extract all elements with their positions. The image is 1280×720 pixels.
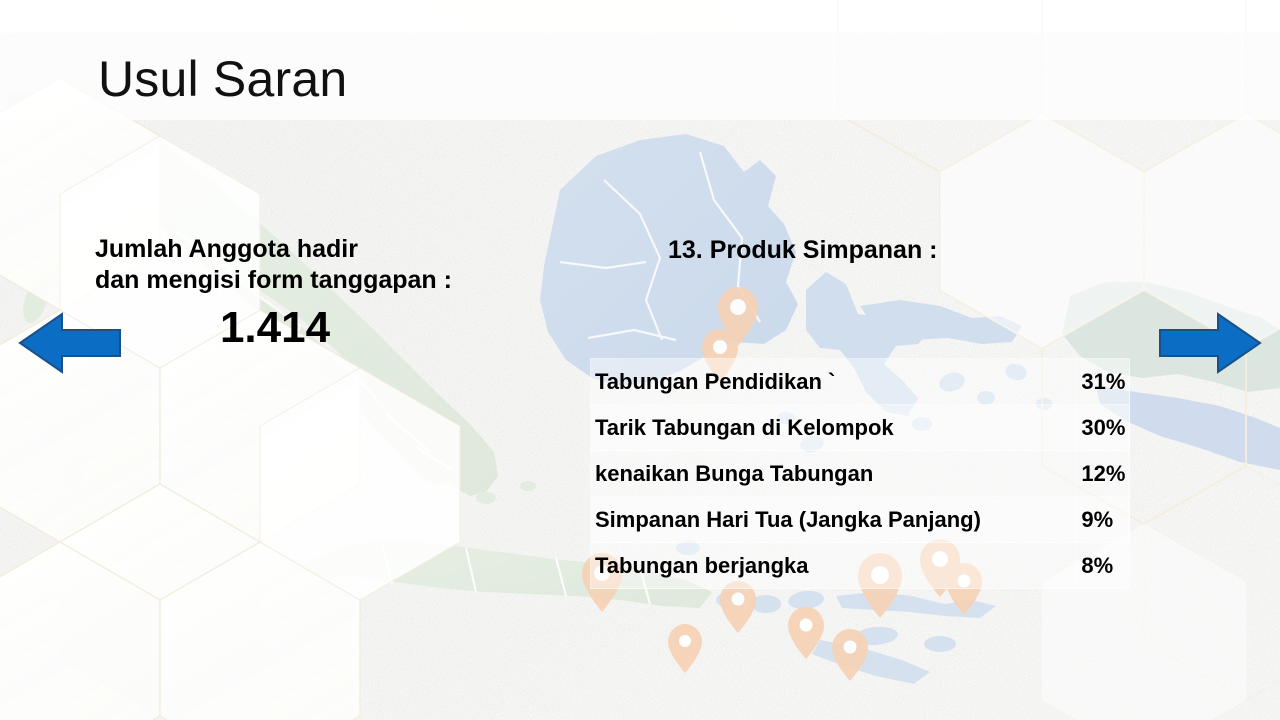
page-title: Usul Saran: [98, 52, 347, 107]
attendance-stat-block: Jumlah Anggota hadir dan mengisi form ta…: [95, 234, 565, 354]
table-row: Tabungan Pendidikan ` 31%: [591, 359, 1130, 405]
arrow-left-icon[interactable]: [18, 312, 122, 374]
attendance-label-line1: Jumlah Anggota hadir: [95, 234, 565, 265]
attendance-count-value: 1.414: [95, 302, 565, 354]
table-row: kenaikan Bunga Tabungan 12%: [591, 451, 1130, 497]
savings-product-table: Tabungan Pendidikan ` 31% Tarik Tabungan…: [590, 358, 1130, 589]
attendance-label-line2: dan mengisi form tanggapan :: [95, 265, 565, 296]
product-percent: 31%: [1077, 359, 1130, 405]
arrow-right-icon[interactable]: [1158, 312, 1262, 374]
table-row: Simpanan Hari Tua (Jangka Panjang) 9%: [591, 497, 1130, 543]
product-label: kenaikan Bunga Tabungan: [591, 451, 1077, 497]
table-row: Tabungan berjangka 8%: [591, 543, 1130, 589]
product-percent: 30%: [1077, 405, 1130, 451]
previous-slide-button[interactable]: [18, 312, 122, 374]
product-percent: 8%: [1077, 543, 1130, 589]
table-row: Tarik Tabungan di Kelompok 30%: [591, 405, 1130, 451]
product-label: Tabungan berjangka: [591, 543, 1077, 589]
savings-product-heading: 13. Produk Simpanan :: [668, 236, 938, 265]
product-percent: 12%: [1077, 451, 1130, 497]
savings-product-table-body: Tabungan Pendidikan ` 31% Tarik Tabungan…: [591, 359, 1130, 589]
product-label: Tabungan Pendidikan `: [591, 359, 1077, 405]
product-label: Tarik Tabungan di Kelompok: [591, 405, 1077, 451]
next-slide-button[interactable]: [1158, 312, 1262, 374]
slide-usul-saran: Usul Saran Jumlah Anggota hadir dan meng…: [0, 0, 1280, 720]
product-label: Simpanan Hari Tua (Jangka Panjang): [591, 497, 1077, 543]
product-percent: 9%: [1077, 497, 1130, 543]
